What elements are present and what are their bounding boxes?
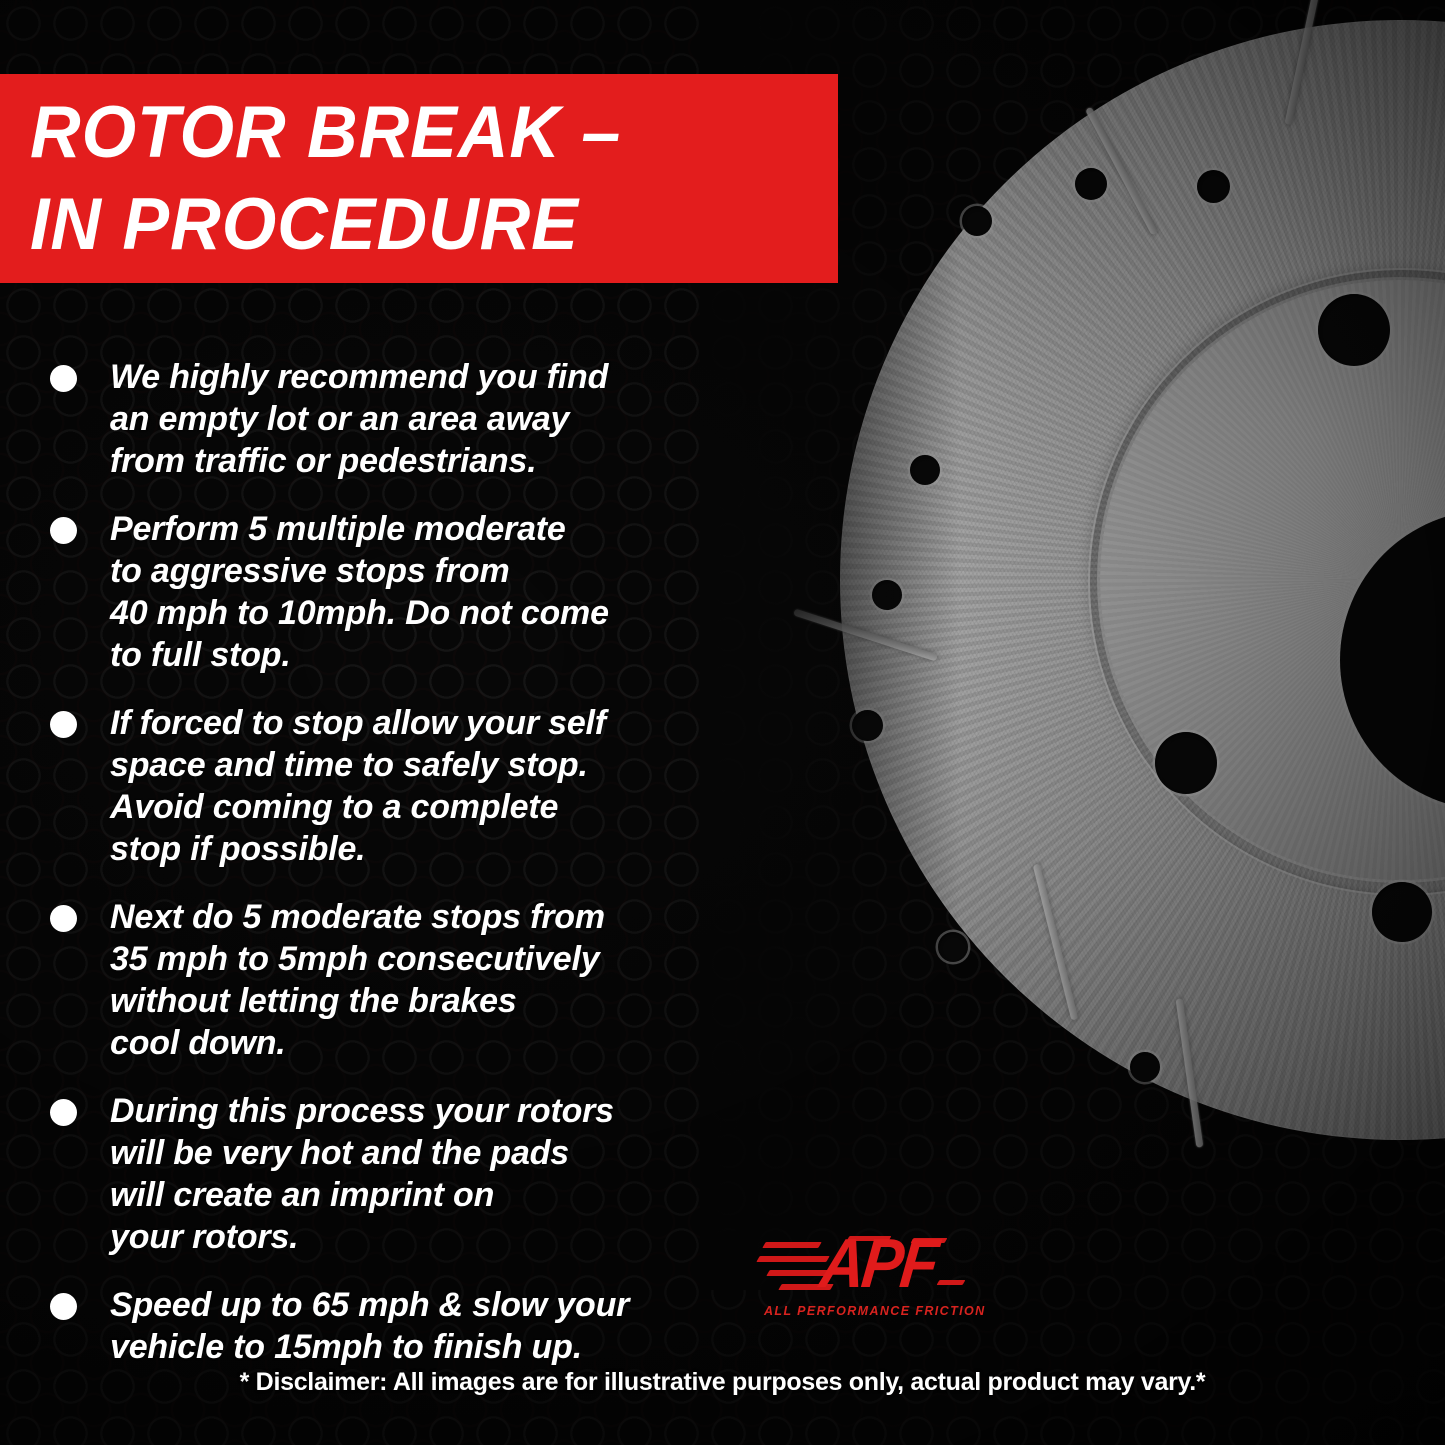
bullet-dot-icon [50, 711, 77, 738]
list-item-text: Next do 5 moderate stops from 35 mph to … [110, 896, 605, 1064]
apf-wordmark-group: APF [762, 1232, 972, 1300]
list-item: If forced to stop allow your self space … [50, 702, 750, 870]
speed-streak-icon [937, 1280, 966, 1285]
disclaimer-text: * Disclaimer: All images are for illustr… [0, 1368, 1445, 1397]
apf-wordmark-text: APF [817, 1230, 939, 1299]
page-title-line-2: IN PROCEDURE [30, 179, 806, 271]
apf-brand-logo: APF ALL PERFORMANCE FRICTION [762, 1232, 972, 1337]
title-banner: ROTOR BREAK – IN PROCEDURE [0, 74, 838, 283]
list-item-text: Speed up to 65 mph & slow your vehicle t… [110, 1284, 629, 1368]
list-item: We highly recommend you find an empty lo… [50, 356, 750, 482]
list-item: Perform 5 multiple moderate to aggressiv… [50, 508, 750, 676]
list-item-text: We highly recommend you find an empty lo… [110, 356, 608, 482]
list-item-text: If forced to stop allow your self space … [110, 702, 606, 870]
bullet-dot-icon [50, 365, 77, 392]
bullet-dot-icon [50, 1293, 77, 1320]
bullet-dot-icon [50, 1099, 77, 1126]
list-item: Next do 5 moderate stops from 35 mph to … [50, 896, 750, 1064]
list-item: During this process your rotors will be … [50, 1090, 750, 1258]
speed-streak-icon [756, 1256, 829, 1262]
bullet-dot-icon [50, 905, 77, 932]
list-item-text: Perform 5 multiple moderate to aggressiv… [110, 508, 609, 676]
list-item: Speed up to 65 mph & slow your vehicle t… [50, 1284, 750, 1368]
infographic-canvas: ROTOR BREAK – IN PROCEDURE We highly rec… [0, 0, 1445, 1445]
bullet-dot-icon [50, 517, 77, 544]
list-item-text: During this process your rotors will be … [110, 1090, 614, 1258]
page-title-line-1: ROTOR BREAK – [30, 87, 806, 179]
apf-tagline-text: ALL PERFORMANCE FRICTION [764, 1304, 970, 1318]
procedure-step-list: We highly recommend you find an empty lo… [50, 356, 750, 1394]
speed-streak-icon [762, 1242, 821, 1248]
